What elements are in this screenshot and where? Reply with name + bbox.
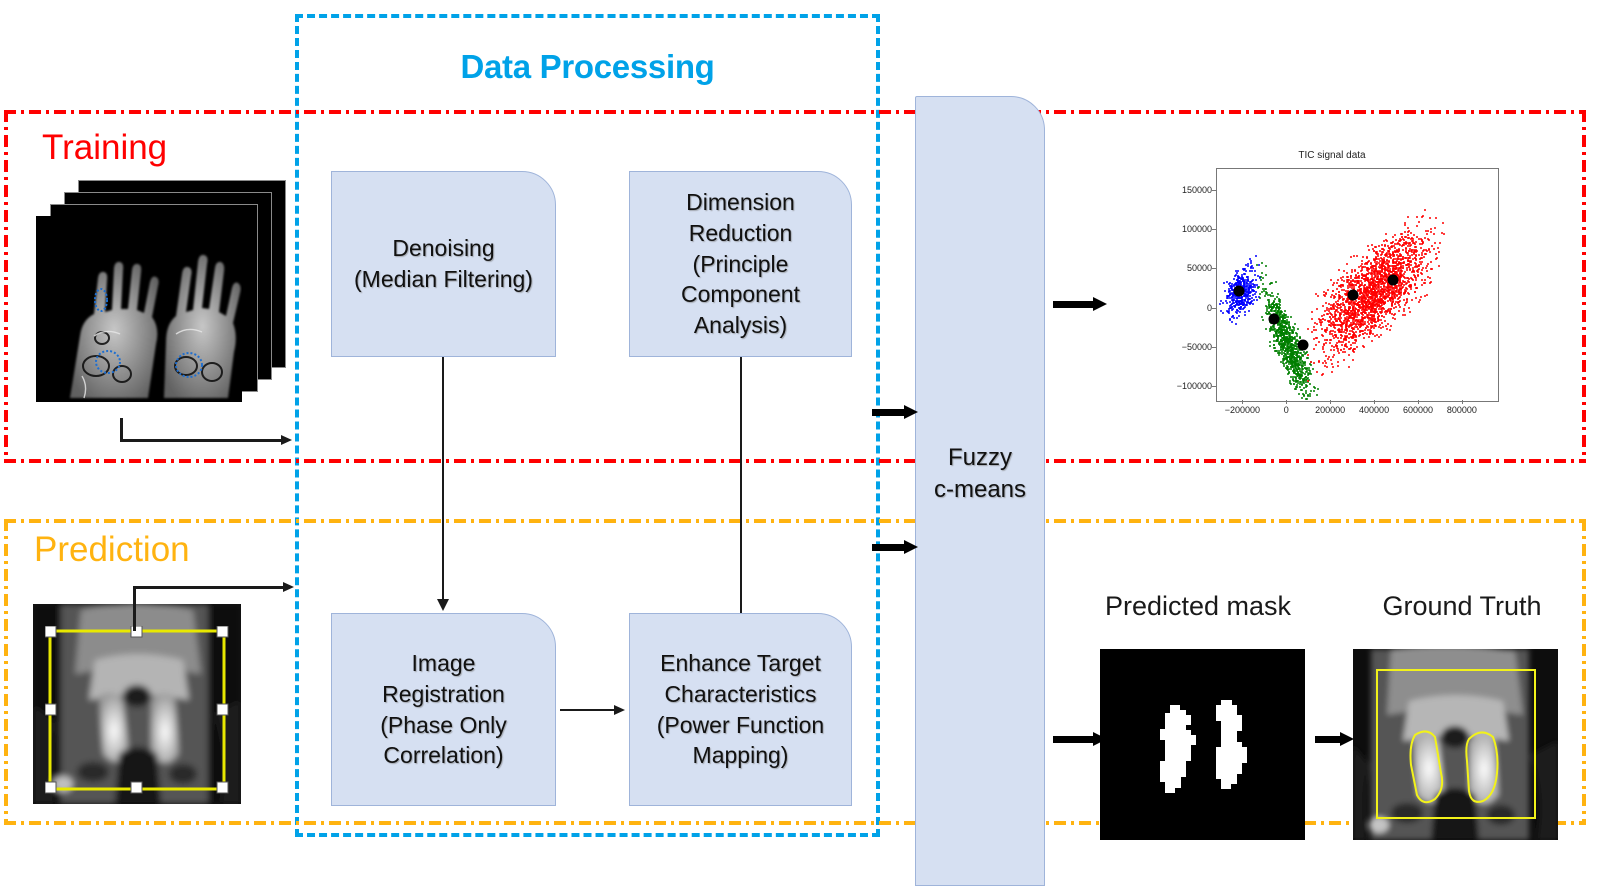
scatter-point [1332,366,1334,368]
scatter-point [1328,303,1330,305]
scatter-point [1433,248,1435,250]
scatter-point [1398,297,1400,299]
scatter-point [1400,270,1402,272]
scatter-point [1420,272,1422,274]
scatter-point [1408,285,1410,287]
scatter-point [1284,353,1286,355]
scatter-point [1287,344,1289,346]
scatter-point [1415,297,1417,299]
imgreg-line3: (Phase Only [380,710,507,741]
scatter-point [1380,278,1382,280]
chart-xtick-mark [1286,400,1287,404]
centroid-green-upper [1269,314,1280,325]
scatter-point [1241,278,1243,280]
scatter-point [1255,279,1257,281]
scatter-point [1295,388,1297,390]
ground-truth-caption: Ground Truth [1362,591,1562,622]
scatter-point [1342,351,1344,353]
scatter-point [1366,333,1368,335]
scatter-point [1285,347,1287,349]
scatter-point [1244,311,1246,313]
scatter-point [1340,286,1342,288]
scatter-point [1287,316,1289,318]
scatter-point [1372,302,1374,304]
scatter-point [1334,313,1336,315]
scatter-point [1254,286,1256,288]
scatter-point [1407,227,1409,229]
scatter-point [1283,363,1285,365]
scatter-point [1272,295,1274,297]
scatter-point [1220,300,1222,302]
scatter-point [1417,274,1419,276]
scatter-point [1307,374,1309,376]
scatter-point [1413,249,1415,251]
scatter-point [1371,340,1373,342]
scatter-point [1343,320,1345,322]
dimred-line2: Reduction [681,218,800,249]
scatter-point [1365,262,1367,264]
scatter-point [1424,253,1426,255]
scatter-point [1317,295,1319,297]
scatter-point [1363,346,1365,348]
scatter-point [1254,270,1256,272]
enhance-line4: Mapping) [657,740,824,771]
scatter-point [1379,293,1381,295]
scatter-point [1343,270,1345,272]
scatter-point [1431,268,1433,270]
scatter-point [1343,280,1345,282]
scatter-point [1310,373,1312,375]
process-box-enhance-target[interactable]: Enhance Target Characteristics (Power Fu… [629,613,852,806]
scatter-point [1389,268,1391,270]
scatter-point [1403,261,1405,263]
training-image-stack [22,180,292,420]
scatter-point [1352,331,1354,333]
scatter-point [1433,233,1435,235]
imgreg-to-enhance-shaft [560,709,616,711]
scatter-point [1296,335,1298,337]
scatter-point [1287,373,1289,375]
train-to-fcm-head [904,405,918,419]
scatter-point [1330,359,1332,361]
scatter-point [1386,259,1388,261]
scatter-point [1337,279,1339,281]
scatter-point [1434,242,1436,244]
scatter-point [1378,315,1380,317]
scatter-point [1252,267,1254,269]
imgreg-to-enhance-head [614,705,625,715]
scatter-point [1338,318,1340,320]
scatter-point [1252,279,1254,281]
scatter-point [1426,270,1428,272]
scatter-point [1419,243,1421,245]
scatter-point [1414,243,1416,245]
scatter-point [1313,362,1315,364]
scatter-point [1304,361,1306,363]
scatter-point [1375,263,1377,265]
scatter-point [1368,336,1370,338]
chart-xtick-mark [1418,400,1419,404]
scatter-point [1278,354,1280,356]
scatter-point [1299,336,1301,338]
scatter-point [1320,324,1322,326]
scatter-point [1323,314,1325,316]
scatter-point [1337,300,1339,302]
scatter-point [1250,266,1252,268]
scatter-point [1232,300,1234,302]
scatter-point [1243,273,1245,275]
predicted-mask-caption: Predicted mask [1098,591,1298,622]
scatter-point [1367,304,1369,306]
scatter-point [1385,233,1387,235]
dimred-line4: Component [681,279,800,310]
scatter-point [1351,285,1353,287]
scatter-point [1386,328,1388,330]
scatter-point [1316,308,1318,310]
denoise-to-imgreg-shaft [442,357,444,600]
scatter-point [1403,244,1405,246]
scatter-point [1238,301,1240,303]
scatter-point [1401,233,1403,235]
scatter-point [1410,260,1412,262]
imgreg-line1: Image [380,648,507,679]
scatter-point [1299,386,1301,388]
prediction-selection-box[interactable] [45,626,229,794]
scatter-point [1233,278,1235,280]
scatter-point [1310,364,1312,366]
scatter-point [1245,270,1247,272]
scatter-point [1374,295,1376,297]
scatter-point [1259,293,1261,295]
scatter-point [1398,301,1400,303]
scatter-point [1269,345,1271,347]
scatter-point [1292,362,1294,364]
scatter-point [1380,327,1382,329]
scatter-point [1387,267,1389,269]
scatter-point [1362,333,1364,335]
scatter-point [1311,318,1313,320]
scatter-point [1425,267,1427,269]
scatter-point [1394,297,1396,299]
scatter-point [1261,262,1263,264]
scatter-point [1283,339,1285,341]
scatter-point [1429,251,1431,253]
scatter-point [1380,254,1382,256]
scatter-point [1421,279,1423,281]
scatter-point [1341,279,1343,281]
scatter-point [1336,288,1338,290]
scatter-point [1373,277,1375,279]
fcm-to-chart-shaft [1053,301,1095,308]
dimred-line3: (Principle [681,249,800,280]
scatter-point [1239,311,1241,313]
denoising-line1: Denoising [354,233,533,264]
scatter-point [1249,303,1251,305]
scatter-point [1406,301,1408,303]
scatter-point [1240,308,1242,310]
scatter-point [1241,274,1243,276]
scatter-point [1409,257,1411,259]
scatter-point [1371,288,1373,290]
scatter-point [1337,365,1339,367]
scatter-point [1348,341,1350,343]
scatter-point [1268,301,1270,303]
scatter-point [1420,247,1422,249]
scatter-point [1243,283,1245,285]
process-box-denoising[interactable]: Denoising (Median Filtering) [331,171,556,357]
scatter-point [1415,251,1417,253]
scatter-point [1407,216,1409,218]
scatter-point [1256,299,1258,301]
scatter-point [1437,247,1439,249]
scatter-point [1296,370,1298,372]
scatter-point [1383,259,1385,261]
scatter-point [1265,291,1267,293]
scatter-point [1287,331,1289,333]
chart-ytick-label: 150000 [1182,185,1212,195]
scatter-point [1328,356,1330,358]
scatter-point [1318,341,1320,343]
scatter-point [1356,326,1358,328]
scatter-point [1345,332,1347,334]
scatter-point [1411,299,1413,301]
scatter-point [1222,302,1224,304]
scatter-point [1380,275,1382,277]
scatter-point [1321,328,1323,330]
scatter-point [1262,319,1264,321]
scatter-point [1276,340,1278,342]
scatter-point [1415,255,1417,257]
fcm-line1: Fuzzy [915,442,1045,474]
scatter-point [1254,293,1256,295]
scatter-point [1219,303,1221,305]
scatter-point [1384,302,1386,304]
scatter-point [1326,339,1328,341]
scatter-point [1283,329,1285,331]
scatter-point [1398,310,1400,312]
scatter-point [1228,312,1230,314]
scatter-point [1345,329,1347,331]
scatter-point [1300,364,1302,366]
scatter-point [1371,293,1373,295]
chart-ytick-label: 100000 [1182,224,1212,234]
scatter-point [1379,324,1381,326]
scatter-point [1269,341,1271,343]
scatter-point [1324,319,1326,321]
scatter-point [1414,262,1416,264]
scatter-point [1238,315,1240,317]
scatter-point [1363,323,1365,325]
scatter-point [1421,240,1423,242]
scatter-point [1389,329,1391,331]
scatter-point [1373,327,1375,329]
scatter-point [1325,362,1327,364]
scatter-point [1410,264,1412,266]
scatter-point [1418,301,1420,303]
scatter-point [1319,321,1321,323]
scatter-point [1245,294,1247,296]
scatter-point [1255,255,1257,257]
scatter-point [1359,293,1361,295]
scatter-point [1415,279,1417,281]
scatter-point [1304,353,1306,355]
scatter-point [1423,256,1425,258]
scatter-point [1384,245,1386,247]
scatter-point [1231,309,1233,311]
scatter-point [1417,271,1419,273]
scatter-point [1315,329,1317,331]
scatter-point [1224,290,1226,292]
scatter-point [1290,316,1292,318]
scatter-point [1438,251,1440,253]
scatter-point [1426,250,1428,252]
scatter-point [1420,296,1422,298]
scatter-point [1416,225,1418,227]
scatter-point [1421,257,1423,259]
ground-truth-image [1353,649,1558,840]
scatter-point [1442,222,1444,224]
scatter-point [1346,276,1348,278]
dimred-line1: Dimension [681,187,800,218]
scatter-point [1367,326,1369,328]
scatter-point [1273,300,1275,302]
scatter-point [1399,240,1401,242]
scatter-point [1327,289,1329,291]
scatter-point [1381,264,1383,266]
scatter-point [1418,238,1420,240]
scatter-point [1407,245,1409,247]
scatter-point [1306,385,1308,387]
scatter-point [1386,262,1388,264]
scatter-point [1323,351,1325,353]
scatter-point [1302,363,1304,365]
scatter-point [1249,270,1251,272]
process-box-dimension-reduction[interactable]: Dimension Reduction (Principle Component… [629,171,852,357]
enhance-line2: Characteristics [657,679,824,710]
scatter-point [1332,324,1334,326]
scatter-point [1419,261,1421,263]
scatter-point [1278,342,1280,344]
scatter-point [1289,357,1291,359]
scatter-point [1229,307,1231,309]
scatter-point [1247,263,1249,265]
chart-ytick-mark [1212,308,1216,309]
scatter-point [1284,344,1286,346]
scatter-point [1275,331,1277,333]
scatter-point [1313,338,1315,340]
scatter-point [1335,345,1337,347]
scatter-point [1260,279,1262,281]
scatter-point [1414,291,1416,293]
scatter-point [1387,245,1389,247]
scatter-point [1296,380,1298,382]
scatter-point [1307,328,1309,330]
scatter-point [1357,272,1359,274]
scatter-point [1357,282,1359,284]
scatter-point [1407,234,1409,236]
centroid-red-left [1348,290,1359,301]
scatter-point [1378,289,1380,291]
scatter-point [1388,290,1390,292]
scatter-point [1340,317,1342,319]
centroid-blue [1233,286,1244,297]
scatter-point [1288,324,1290,326]
scatter-point [1398,250,1400,252]
scatter-point [1233,317,1235,319]
scatter-point [1329,312,1331,314]
fuzzy-cmeans-label: Fuzzy c-means [915,442,1045,507]
enhance-line3: (Power Function [657,710,824,741]
scatter-point [1352,349,1354,351]
scatter-point [1362,307,1364,309]
chart-ytick-label: 50000 [1187,263,1212,273]
tic-signal-scatter-chart: TIC signal data −100000−5000005000010000… [1167,168,1497,422]
scatter-point [1336,309,1338,311]
scatter-point [1355,331,1357,333]
scatter-point [1394,234,1396,236]
scatter-point [1226,302,1228,304]
scatter-point [1389,299,1391,301]
scatter-point [1275,281,1277,283]
scatter-point [1351,269,1353,271]
scatter-point [1408,281,1410,283]
scatter-point [1391,298,1393,300]
scatter-point [1373,291,1375,293]
scatter-point [1413,270,1415,272]
scatter-point [1363,337,1365,339]
process-box-image-registration[interactable]: Image Registration (Phase Only Correlati… [331,613,556,806]
scatter-point [1351,271,1353,273]
scatter-point [1333,337,1335,339]
scatter-point [1292,379,1294,381]
scatter-point [1289,336,1291,338]
scatter-point [1390,325,1392,327]
scatter-point [1288,342,1290,344]
scatter-point [1361,260,1363,262]
scatter-point [1360,270,1362,272]
scatter-point [1236,272,1238,274]
scatter-point [1289,380,1291,382]
scatter-point [1244,306,1246,308]
prediction-arrow-stem [133,586,136,631]
scatter-point [1269,294,1271,296]
scatter-point [1265,265,1267,267]
scatter-point [1270,309,1272,311]
scatter-point [1405,241,1407,243]
scatter-point [1340,321,1342,323]
scatter-point [1234,275,1236,277]
scatter-point [1321,315,1323,317]
scatter-point [1347,287,1349,289]
scatter-point [1356,255,1358,257]
scatter-point [1223,282,1225,284]
dimred-line5: Analysis) [681,310,800,341]
scatter-point [1410,244,1412,246]
scatter-point [1322,346,1324,348]
scatter-point [1316,371,1318,373]
chart-plot-area [1216,168,1499,402]
scatter-point [1339,313,1341,315]
scatter-point [1246,304,1248,306]
chart-xtick-label: 400000 [1359,405,1389,415]
scatter-point [1309,383,1311,385]
scatter-point [1330,339,1332,341]
scatter-point [1279,304,1281,306]
scatter-point [1346,323,1348,325]
scatter-point [1286,336,1288,338]
scatter-point [1292,370,1294,372]
chart-xtick-mark [1242,400,1243,404]
